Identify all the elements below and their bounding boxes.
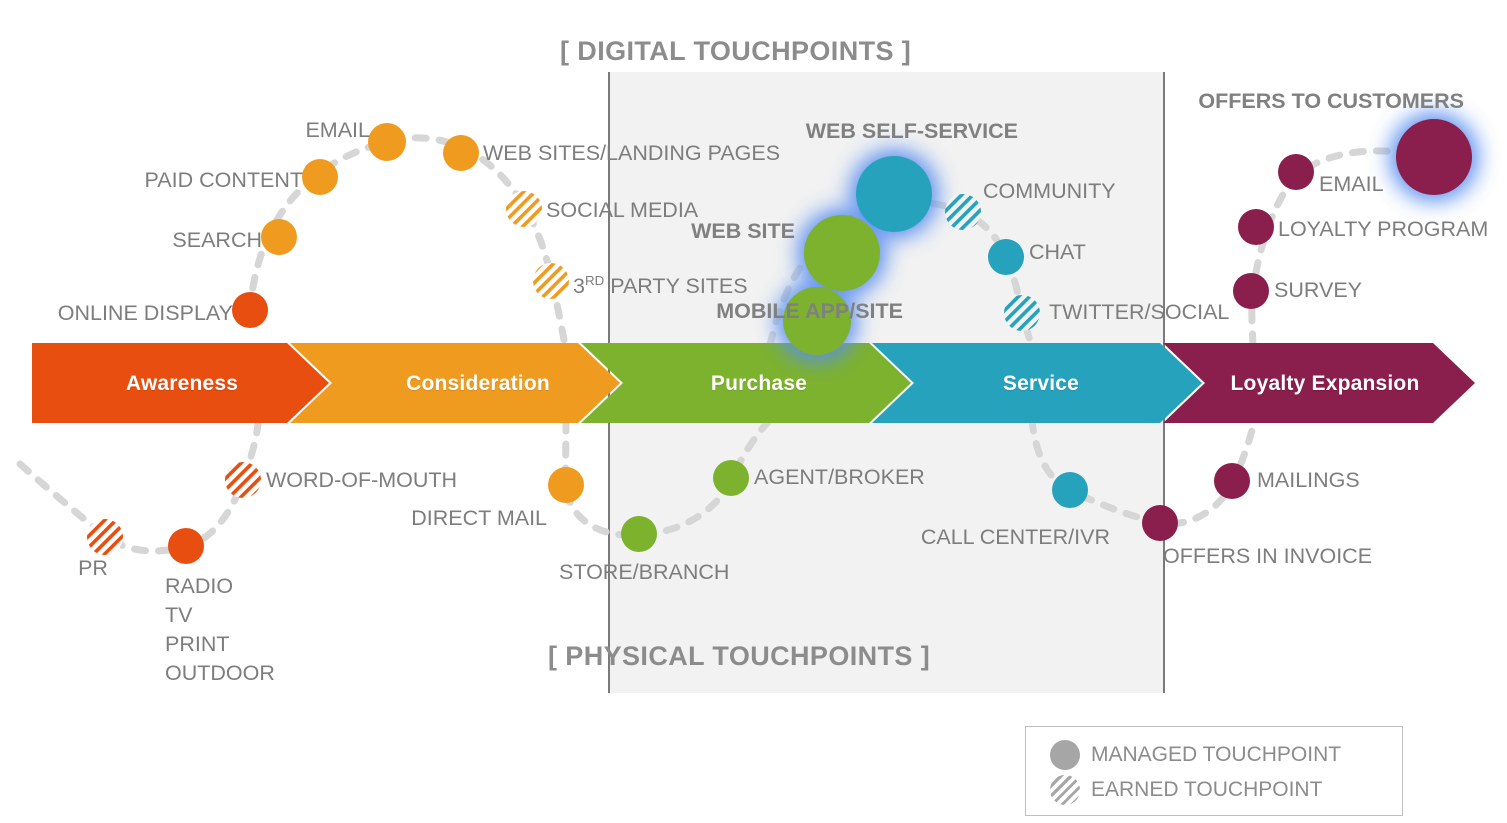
touchpoint-mailings[interactable] [1214, 463, 1250, 499]
label-survey: SURVEY [1274, 276, 1362, 305]
touchpoint-word-of-mouth[interactable] [225, 462, 261, 498]
touchpoint-offers-to-customers[interactable] [1396, 119, 1472, 195]
touchpoint-direct-mail[interactable] [548, 467, 584, 503]
touchpoint-web-sites-landing-pages[interactable] [443, 135, 479, 171]
customer-journey-diagram: [ DIGITAL TOUCHPOINTS ] [ PHYSICAL TOUCH… [0, 0, 1507, 823]
label-chat: CHAT [1029, 238, 1086, 267]
label-mobile-app-site: MOBILE APP/SITE [716, 297, 903, 326]
touchpoint-community[interactable] [945, 194, 981, 230]
label-offers-in-invoice: OFFERS IN INVOICE [1163, 542, 1372, 571]
touchpoint-web-site[interactable] [804, 215, 880, 291]
touchpoint-agent-broker[interactable] [713, 460, 749, 496]
legend-label-earned: EARNED TOUCHPOINT [1091, 778, 1322, 802]
legend-box: MANAGED TOUCHPOINT EARNED TOUCHPOINT [1025, 726, 1403, 816]
label-online-display: ONLINE DISPLAY [58, 299, 233, 328]
label-word-of-mouth: WORD-OF-MOUTH [266, 466, 457, 495]
label-paid-content: PAID CONTENT [145, 166, 303, 195]
label-community: COMMUNITY [983, 177, 1116, 206]
label-twitter-social: TWITTER/SOCIAL [1049, 298, 1229, 327]
label-agent-broker: AGENT/BROKER [754, 463, 925, 492]
legend-label-managed: MANAGED TOUCHPOINT [1091, 743, 1341, 767]
legend-row-earned: EARNED TOUCHPOINT [1050, 775, 1322, 805]
managed-touchpoint-icon [1050, 740, 1080, 770]
touchpoint-call-center-ivr[interactable] [1052, 472, 1088, 508]
touchpoint-survey[interactable] [1233, 273, 1269, 309]
touchpoint-third-party-sites[interactable] [533, 263, 569, 299]
label-web-site: WEB SITE [691, 217, 795, 246]
touchpoint-email-awareness[interactable] [368, 123, 406, 161]
touchpoint-radio-tv-print-outdoor[interactable] [168, 528, 204, 564]
label-email-loyalty: EMAIL [1319, 170, 1384, 199]
touchpoint-email-loyalty[interactable] [1278, 154, 1314, 190]
label-pr: PR [78, 554, 108, 583]
touchpoint-offers-in-invoice[interactable] [1142, 505, 1178, 541]
touchpoint-online-display[interactable] [232, 292, 268, 328]
label-direct-mail: DIRECT MAIL [411, 504, 547, 533]
label-offers-to-customers: OFFERS TO CUSTOMERS [1198, 87, 1464, 116]
touchpoint-store-branch[interactable] [621, 516, 657, 552]
label-store-branch: STORE/BRANCH [559, 558, 729, 587]
touchpoint-social-media[interactable] [506, 191, 542, 227]
label-search: SEARCH [172, 226, 262, 255]
label-email-awareness: EMAIL [305, 116, 370, 145]
touchpoint-chat[interactable] [988, 239, 1024, 275]
label-mailings: MAILINGS [1257, 466, 1360, 495]
touchpoint-pr[interactable] [87, 519, 123, 555]
label-social-media: SOCIAL MEDIA [546, 196, 698, 225]
label-web-sites-landing-pages: WEB SITES/LANDING PAGES [483, 139, 780, 168]
label-call-center-ivr: CALL CENTER/IVR [921, 523, 1110, 552]
touchpoint-twitter-social[interactable] [1004, 295, 1040, 331]
touchpoint-web-self-service[interactable] [856, 156, 932, 232]
touchpoint-paid-content[interactable] [302, 159, 338, 195]
label-radio-tv-print-outdoor: RADIOTVPRINTOUTDOOR [165, 572, 275, 688]
label-loyalty-program: LOYALTY PROGRAM [1278, 215, 1488, 244]
legend-row-managed: MANAGED TOUCHPOINT [1050, 740, 1341, 770]
touchpoint-loyalty-program[interactable] [1238, 209, 1274, 245]
label-web-self-service: WEB SELF-SERVICE [806, 117, 1018, 146]
touchpoint-search[interactable] [261, 219, 297, 255]
earned-touchpoint-icon [1050, 775, 1080, 805]
touchpoint-nodes [0, 0, 1507, 823]
